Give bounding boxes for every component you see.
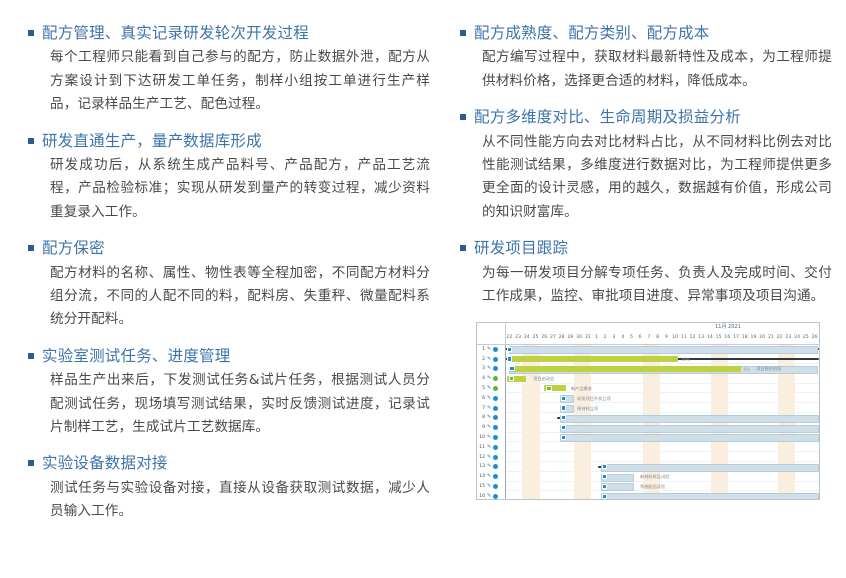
gantt-day-label: 25	[531, 332, 540, 343]
gantt-task-bar[interactable]	[509, 356, 679, 362]
gantt-task-row[interactable]: 原材料立项	[505, 403, 819, 413]
feature-heading: 研发直通生产，量产数据库形成	[28, 130, 430, 152]
gantt-status-dot-icon[interactable]	[493, 366, 498, 371]
gantt-task-row[interactable]	[505, 442, 819, 452]
gantt-day-label: 26	[810, 332, 819, 343]
gantt-task-marker[interactable]	[561, 415, 566, 420]
gantt-status-dot-icon[interactable]	[493, 415, 498, 420]
bullet-square-icon	[28, 245, 34, 251]
feature-title: 实验设备数据对接	[42, 452, 168, 474]
feature-title: 实验室测试任务、进度管理	[42, 345, 230, 367]
gantt-row-header[interactable]: 6✎	[477, 393, 505, 403]
feature-body: 样品生产出来后，下发测试任务&试片任务，根据测试人员分配测试任务，现场填写测试结…	[28, 369, 430, 439]
gantt-row-header[interactable]: 9✎	[477, 423, 505, 433]
gantt-task-marker[interactable]	[509, 366, 514, 371]
gantt-day-label: 20	[758, 332, 767, 343]
gantt-day-label: 15	[714, 332, 723, 343]
gantt-task-marker[interactable]	[509, 376, 514, 381]
pencil-icon[interactable]: ✎	[487, 366, 491, 371]
feature-item: 实验设备数据对接 测试任务与实验设备对接，直接从设备获取测试数据，减少人员输入工…	[28, 452, 430, 523]
gantt-task-label: 研发项目开发立项	[577, 396, 611, 402]
gantt-day-label: 26	[540, 332, 549, 343]
gantt-status-dot-icon[interactable]	[493, 455, 498, 460]
gantt-task-row[interactable]: 新材料样品试验	[505, 472, 819, 482]
gantt-month-label: 11月 2021	[637, 323, 819, 332]
gantt-task-marker[interactable]	[507, 347, 512, 352]
gantt-task-row[interactable]: 新产品需求	[505, 384, 819, 394]
pencil-icon[interactable]: ✎	[487, 376, 491, 381]
gantt-row-header[interactable]: 5✎	[477, 384, 505, 394]
gantt-row-header[interactable]: 1✎	[477, 344, 505, 354]
feature-body: 配方材料的名称、属性、物性表等全程加密，不同配方材料分组分流，不同的人配不同的料…	[28, 262, 430, 332]
feature-heading: 配方多维度对比、生命周期及损益分析	[460, 106, 832, 128]
gantt-task-marker[interactable]	[602, 464, 607, 469]
gantt-task-row[interactable]: 项目报名阶段9%	[505, 364, 819, 374]
gantt-row-header[interactable]: 16✎	[477, 491, 505, 500]
feature-item: 实验室测试任务、进度管理 样品生产出来后，下发测试任务&试片任务，根据测试人员分…	[28, 345, 430, 440]
gantt-day-labels: 2223242526272829303112345678910111213141…	[505, 332, 819, 343]
feature-body: 测试任务与实验设备对接，直接从设备获取测试数据，减少人员输入工作。	[28, 477, 430, 524]
gantt-timeline-header: 11月 2021 2223242526272829303112345678910…	[505, 323, 819, 345]
gantt-row-header[interactable]: 4✎	[477, 374, 505, 384]
gantt-day-label: 8	[653, 332, 662, 343]
gantt-row-number: 16	[479, 494, 485, 499]
bullet-square-icon	[28, 138, 34, 144]
gantt-task-label: 新材料样品试验	[640, 474, 669, 480]
bullet-square-icon	[460, 30, 466, 36]
gantt-row-header-column: 1✎2✎3✎4✎5✎6✎7✎8✎9✎10✎11✎12✎13✎14✎15✎16✎	[477, 344, 506, 499]
gantt-day-label: 7	[645, 332, 654, 343]
gantt-task-marker[interactable]	[602, 484, 607, 489]
gantt-task-marker[interactable]	[546, 386, 551, 391]
pencil-icon[interactable]: ✎	[487, 464, 491, 469]
feature-body: 为每一研发项目分解专项任务、负责人及完成时间、交付工作成果，监控、审批项目进度、…	[460, 262, 832, 309]
gantt-status-dot-icon[interactable]	[493, 474, 498, 479]
gantt-row-number: 1	[479, 347, 485, 352]
gantt-row-number: 2	[479, 357, 485, 362]
gantt-row-number: 14	[479, 474, 485, 479]
gantt-row-header[interactable]: 3✎	[477, 364, 505, 374]
feature-title: 研发直通生产，量产数据库形成	[42, 130, 262, 152]
gantt-day-label: 27	[549, 332, 558, 343]
gantt-chart-body: 14%项目报名阶段9%项目启动会新产品需求研发项目开发立项原材料立项新材料样品试…	[505, 344, 819, 499]
two-column-layout: 配方管理、真实记录研发轮次开发过程 每个工程师只能看到自己参与的配方，防止数据外…	[10, 22, 836, 524]
gantt-task-marker[interactable]	[561, 435, 566, 440]
gantt-task-row[interactable]	[505, 433, 819, 443]
pencil-icon[interactable]: ✎	[487, 445, 491, 450]
gantt-task-bar[interactable]	[509, 346, 819, 354]
feature-heading: 实验设备数据对接	[28, 452, 430, 474]
gantt-status-dot-icon[interactable]	[493, 464, 498, 469]
gantt-row-number: 3	[479, 366, 485, 371]
slide-root: 配方管理、真实记录研发轮次开发过程 每个工程师只能看到自己参与的配方，防止数据外…	[0, 0, 846, 578]
gantt-day-label: 3	[610, 332, 619, 343]
gantt-task-bar[interactable]	[601, 493, 819, 499]
pencil-icon[interactable]: ✎	[487, 494, 491, 499]
gantt-task-row[interactable]	[505, 344, 819, 354]
gantt-task-bar[interactable]	[560, 415, 819, 423]
gantt-row-header[interactable]: 10✎	[477, 433, 505, 443]
gantt-task-label: 项目启动会	[533, 376, 554, 382]
pencil-icon[interactable]: ✎	[487, 425, 491, 430]
feature-title: 配方成熟度、配方类别、配方成本	[474, 22, 710, 44]
gantt-progress-percent: 14%	[681, 357, 690, 362]
feature-item: 研发直通生产，量产数据库形成 研发成功后，从系统生成产品料号、产品配方，产品工艺…	[28, 130, 430, 225]
gantt-task-bar[interactable]	[560, 434, 819, 442]
gantt-task-row[interactable]	[505, 462, 819, 472]
gantt-status-dot-icon[interactable]	[493, 376, 498, 381]
pencil-icon[interactable]: ✎	[487, 474, 491, 479]
bullet-square-icon	[460, 114, 466, 120]
gantt-status-dot-icon[interactable]	[493, 386, 498, 391]
gantt-task-marker[interactable]	[561, 396, 566, 401]
gantt-row-header[interactable]: 2✎	[477, 354, 505, 364]
gantt-row-header[interactable]: 14✎	[477, 472, 505, 482]
gantt-day-label: 5	[627, 332, 636, 343]
gantt-row-number: 15	[479, 484, 485, 489]
pencil-icon[interactable]: ✎	[487, 357, 491, 362]
pencil-icon[interactable]: ✎	[487, 455, 491, 460]
gantt-row-number: 11	[479, 445, 485, 450]
gantt-day-label: 24	[793, 332, 802, 343]
feature-heading: 配方成熟度、配方类别、配方成本	[460, 22, 832, 44]
pencil-icon[interactable]: ✎	[487, 347, 491, 352]
gantt-status-dot-icon[interactable]	[493, 425, 498, 430]
gantt-status-dot-icon[interactable]	[493, 406, 498, 411]
gantt-row-number: 9	[479, 425, 485, 430]
gantt-day-label: 30	[575, 332, 584, 343]
feature-item: 配方多维度对比、生命周期及损益分析 从不同性能方向去对比材料占比，从不同材料比例…	[460, 106, 832, 224]
gantt-task-label: 原材料立项	[577, 406, 598, 412]
feature-body: 每个工程师只能看到自己参与的配方，防止数据外泄，配方从方案设计到下达研发工单任务…	[28, 46, 430, 116]
feature-body: 从不同性能方向去对比材料占比，从不同材料比例去对比性能测试结果，多维度进行数据对…	[460, 131, 832, 225]
gantt-task-bar[interactable]	[560, 425, 819, 433]
gantt-day-label: 16	[723, 332, 732, 343]
bullet-square-icon	[28, 460, 34, 466]
gantt-status-dot-icon[interactable]	[493, 494, 498, 499]
gantt-day-label: 1	[592, 332, 601, 343]
gantt-task-row[interactable]: 14%	[505, 354, 819, 364]
gantt-day-label: 2	[601, 332, 610, 343]
gantt-row-header[interactable]: 12✎	[477, 452, 505, 462]
feature-heading: 配方保密	[28, 237, 430, 259]
gantt-row-header[interactable]: 11✎	[477, 442, 505, 452]
gantt-row-header[interactable]: 13✎	[477, 462, 505, 472]
gantt-task-label: 系统配比试验	[640, 484, 665, 490]
feature-title: 研发项目跟踪	[474, 237, 568, 259]
bullet-square-icon	[28, 353, 34, 359]
pencil-icon[interactable]: ✎	[487, 435, 491, 440]
feature-title: 配方多维度对比、生命周期及损益分析	[474, 106, 741, 128]
gantt-day-label: 23	[784, 332, 793, 343]
feature-item: 配方保密 配方材料的名称、属性、物性表等全程加密，不同配方材料分组分流，不同的人…	[28, 237, 430, 332]
gantt-day-label: 13	[697, 332, 706, 343]
gantt-row-header[interactable]: 7✎	[477, 403, 505, 413]
pencil-icon[interactable]: ✎	[487, 484, 491, 489]
feature-heading: 配方管理、真实记录研发轮次开发过程	[28, 22, 430, 44]
gantt-task-marker[interactable]	[507, 356, 512, 361]
gantt-task-row[interactable]	[505, 423, 819, 433]
gantt-row-number: 8	[479, 415, 485, 420]
gantt-status-dot-icon[interactable]	[493, 347, 498, 352]
gantt-day-label: 19	[749, 332, 758, 343]
gantt-day-label: 22	[775, 332, 784, 343]
gantt-day-label: 9	[662, 332, 671, 343]
gantt-day-label: 25	[801, 332, 810, 343]
gantt-corner-cell	[477, 323, 506, 345]
gantt-task-bar[interactable]	[601, 464, 819, 472]
feature-body: 研发成功后，从系统生成产品料号、产品配方，产品工艺流程，产品检验标准；实现从研发…	[28, 154, 430, 224]
gantt-day-label: 17	[732, 332, 741, 343]
feature-item: 配方成熟度、配方类别、配方成本 配方编写过程中，获取材料最新特性及成本，为工程师…	[460, 22, 832, 93]
gantt-status-dot-icon[interactable]	[493, 357, 498, 362]
feature-item: 研发项目跟踪 为每一研发项目分解专项任务、负责人及完成时间、交付工作成果，监控、…	[460, 237, 832, 308]
gantt-task-row[interactable]: 系统配比试验	[505, 482, 819, 492]
gantt-row-number: 5	[479, 386, 485, 391]
gantt-day-label: 11	[679, 332, 688, 343]
gantt-row-number: 13	[479, 464, 485, 469]
feature-item: 配方管理、真实记录研发轮次开发过程 每个工程师只能看到自己参与的配方，防止数据外…	[28, 22, 430, 117]
feature-title: 配方管理、真实记录研发轮次开发过程	[42, 22, 309, 44]
gantt-task-marker[interactable]	[602, 494, 607, 499]
gantt-day-label: 31	[583, 332, 592, 343]
gantt-task-row[interactable]	[505, 452, 819, 462]
gantt-task-label: 新产品需求	[571, 386, 592, 392]
bullet-square-icon	[460, 245, 466, 251]
gantt-row-number: 12	[479, 455, 485, 460]
feature-title: 配方保密	[42, 237, 105, 259]
gantt-task-marker[interactable]	[561, 425, 566, 430]
gantt-day-label: 24	[522, 332, 531, 343]
gantt-day-label: 14	[706, 332, 715, 343]
gantt-day-label: 4	[618, 332, 627, 343]
feature-heading: 实验室测试任务、进度管理	[28, 345, 430, 367]
gantt-row-number: 7	[479, 406, 485, 411]
pencil-icon[interactable]: ✎	[487, 386, 491, 391]
gantt-progress-percent: 9%	[744, 367, 750, 372]
gantt-task-row[interactable]	[505, 491, 819, 499]
bullet-square-icon	[28, 30, 34, 36]
gantt-row-header[interactable]: 15✎	[477, 482, 505, 492]
gantt-status-dot-icon[interactable]	[493, 435, 498, 440]
gantt-day-label: 12	[688, 332, 697, 343]
gantt-day-label: 18	[740, 332, 749, 343]
gantt-status-dot-icon[interactable]	[493, 396, 498, 401]
gantt-row-number: 6	[479, 396, 485, 401]
feature-heading: 研发项目跟踪	[460, 237, 832, 259]
gantt-chart-screenshot: 1✎2✎3✎4✎5✎6✎7✎8✎9✎10✎11✎12✎13✎14✎15✎16✎ …	[476, 322, 820, 500]
gantt-day-label: 23	[514, 332, 523, 343]
gantt-status-dot-icon[interactable]	[493, 445, 498, 450]
gantt-row-number: 10	[479, 435, 485, 440]
pencil-icon[interactable]: ✎	[487, 415, 491, 420]
gantt-row-number: 4	[479, 376, 485, 381]
gantt-day-label: 21	[767, 332, 776, 343]
gantt-task-marker[interactable]	[602, 474, 607, 479]
gantt-day-label: 22	[505, 332, 514, 343]
gantt-day-label: 6	[636, 332, 645, 343]
gantt-task-bar[interactable]	[509, 366, 741, 372]
right-column: 配方成熟度、配方类别、配方成本 配方编写过程中，获取材料最新特性及成本，为工程师…	[444, 22, 832, 500]
gantt-row-header[interactable]: 8✎	[477, 413, 505, 423]
pencil-icon[interactable]: ✎	[487, 396, 491, 401]
gantt-day-label: 29	[566, 332, 575, 343]
gantt-task-label: 项目报名阶段	[756, 366, 781, 372]
gantt-task-marker[interactable]	[561, 405, 566, 410]
gantt-day-label: 28	[557, 332, 566, 343]
gantt-day-label: 10	[671, 332, 680, 343]
gantt-task-row[interactable]	[505, 413, 819, 423]
left-column: 配方管理、真实记录研发轮次开发过程 每个工程师只能看到自己参与的配方，防止数据外…	[10, 22, 430, 524]
gantt-task-row[interactable]: 项目启动会	[505, 374, 819, 384]
pencil-icon[interactable]: ✎	[487, 406, 491, 411]
feature-body: 配方编写过程中，获取材料最新特性及成本，为工程师提供材料价格，选择更合适的材料，…	[460, 46, 832, 93]
gantt-status-dot-icon[interactable]	[493, 484, 498, 489]
gantt-task-row[interactable]: 研发项目开发立项	[505, 393, 819, 403]
